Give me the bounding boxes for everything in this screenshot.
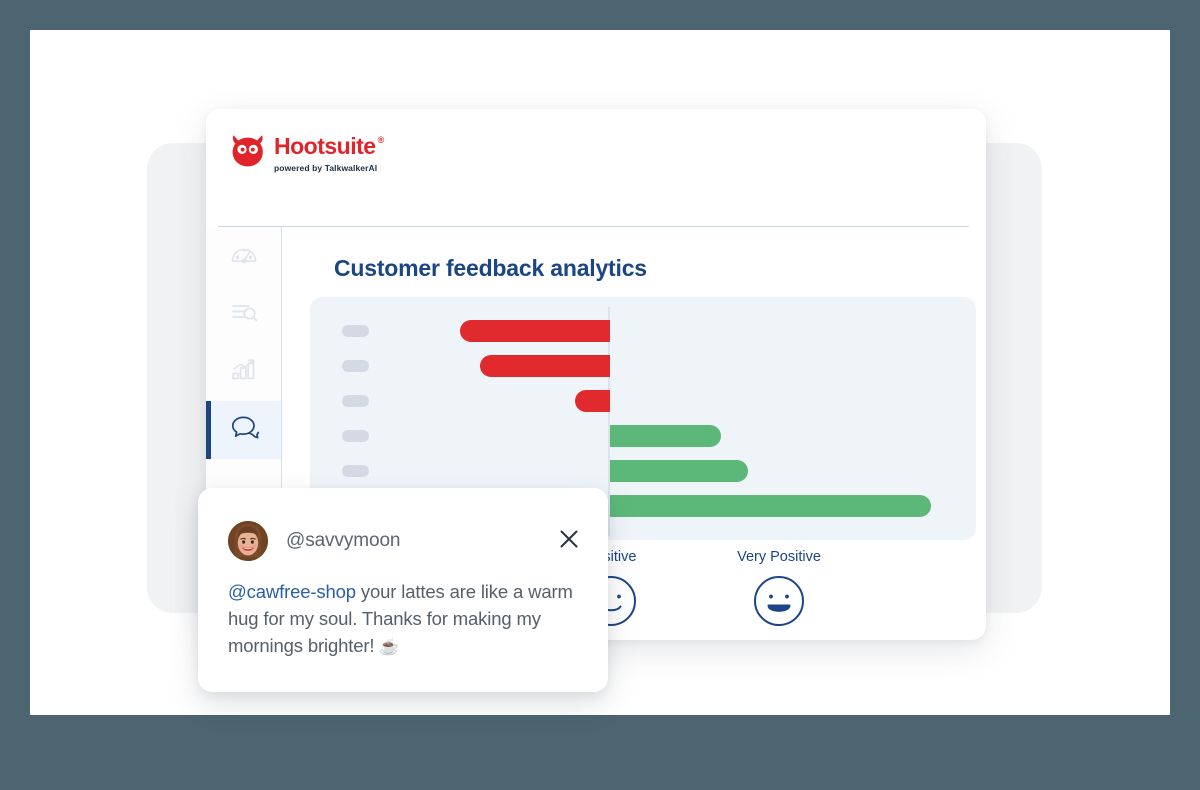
legend-label: Very Positive <box>704 549 854 565</box>
logo-wordmark-text: Hootsuite <box>274 135 376 158</box>
hootsuite-logo[interactable]: Hootsuite ® powered by TalkwalkerAI <box>229 134 384 176</box>
page-title: Customer feedback analytics <box>334 255 647 282</box>
category-label-placeholder <box>342 360 369 372</box>
registered-mark: ® <box>376 135 384 145</box>
chart-bar-negative <box>480 355 610 377</box>
mention-link[interactable]: @cawfree-shop <box>228 581 356 602</box>
logo-tagline: powered by TalkwalkerAI <box>274 163 377 173</box>
chat-bubbles-icon <box>228 413 260 448</box>
sidebar-item-search[interactable] <box>206 285 282 343</box>
category-label-placeholder <box>342 430 369 442</box>
close-button[interactable] <box>556 528 582 554</box>
close-icon <box>558 528 580 555</box>
legend-item-very-positive[interactable]: Very Positive <box>704 549 854 628</box>
page-canvas: Hootsuite ® powered by TalkwalkerAI <box>30 30 1170 715</box>
avatar <box>228 521 268 561</box>
chart-bar-negative <box>575 390 610 412</box>
sidebar-item-analytics[interactable] <box>206 343 282 401</box>
owl-icon <box>229 134 267 167</box>
coffee-emoji: ☕ <box>379 639 399 656</box>
user-handle: @savvymoon <box>286 530 400 552</box>
category-label-placeholder <box>342 395 369 407</box>
chart-bar-positive <box>610 495 931 517</box>
bar-chart-trend-icon <box>229 355 259 390</box>
chart-bar-positive <box>610 425 721 447</box>
feedback-card-header: @savvymoon <box>228 521 582 561</box>
chart-bar-negative <box>460 320 610 342</box>
sidebar-item-messages[interactable] <box>206 401 282 459</box>
sidebar-item-dashboard[interactable] <box>206 227 282 285</box>
category-label-placeholder <box>342 465 369 477</box>
smiley-open-smile-icon <box>704 574 854 628</box>
gauge-icon <box>229 239 259 274</box>
logo-wordmark-row: Hootsuite ® <box>274 135 384 158</box>
feedback-card: @savvymoon @cawfree-shop your lattes are… <box>198 488 608 692</box>
app-header: Hootsuite ® powered by TalkwalkerAI <box>206 109 986 226</box>
category-label-placeholder <box>342 325 369 337</box>
chart-bar-positive <box>610 460 748 482</box>
feedback-message: @cawfree-shop your lattes are like a war… <box>228 578 578 661</box>
search-list-icon <box>229 297 259 332</box>
